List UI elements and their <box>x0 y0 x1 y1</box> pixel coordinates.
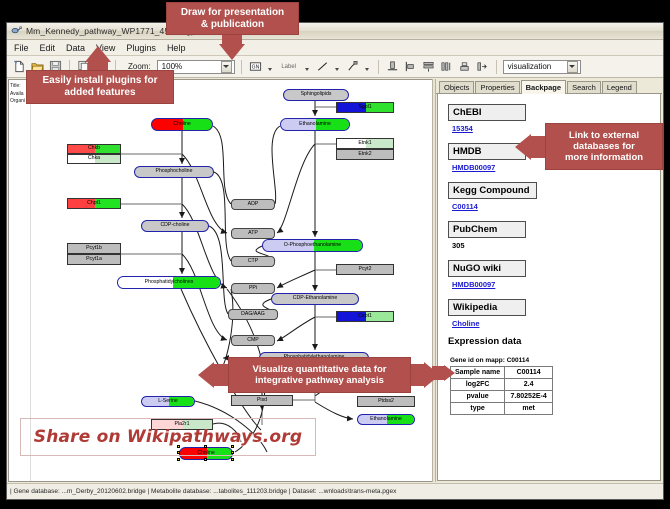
expr-value-2: 7.80252E-4 <box>505 391 553 403</box>
db-pubchem-header: PubChem <box>448 221 526 238</box>
gene-node-cept1[interactable]: Cept1 <box>336 311 394 322</box>
visualization-chevron-down-icon[interactable] <box>567 61 578 73</box>
callout-draw: Draw for presentation & publication <box>166 2 299 35</box>
toolbar-separator-4 <box>378 60 379 74</box>
gene-node-etnk2[interactable]: Etnk2 <box>336 149 394 160</box>
pathway-node-ctp[interactable]: CTP <box>231 256 275 267</box>
gene-node-chpt1[interactable]: Chpt1 <box>67 198 121 209</box>
callout-expr-arrow <box>444 365 455 381</box>
pathway-node-label: Choline <box>173 122 191 127</box>
pathway-node-label: CTP <box>248 259 258 264</box>
db-kegg-header: Kegg Compound <box>448 182 537 199</box>
callout-plugins-text: Easily install plugins for added feature… <box>42 75 157 99</box>
pathway-node-label: L-Serine <box>158 399 178 404</box>
gene-node-chka[interactable]: Chka <box>67 154 121 164</box>
pathway-node-ppi[interactable]: PPi <box>231 283 275 294</box>
interaction-icon[interactable] <box>345 59 360 74</box>
screenshot-root: Mm_Kennedy_pathway_WP1771_45176.gpml Fil… <box>0 0 670 509</box>
svg-text:GN: GN <box>251 65 259 71</box>
tab-legend[interactable]: Legend <box>602 81 637 93</box>
pathway-node-adp[interactable]: ADP <box>231 199 275 210</box>
gene-node-label: Pcyt2 <box>359 267 372 272</box>
db-pubchem-value: 305 <box>452 241 654 250</box>
table-row: pvalue 7.80252E-4 <box>451 391 553 403</box>
table-row: Sample name C00114 <box>451 367 553 379</box>
pathway-node-choline-top[interactable]: Choline <box>151 118 213 131</box>
gene-node-pcyt1a[interactable]: Pcyt1a <box>67 254 121 265</box>
pathway-node-label: CDP-Ethanolamine <box>293 296 337 301</box>
expr-value-0: C00114 <box>505 367 553 379</box>
expr-key-1: log2FC <box>451 379 505 391</box>
gene-node-label: Chka <box>88 156 100 161</box>
callout-links-arrow <box>515 134 531 160</box>
callout-draw-arrow <box>219 44 245 60</box>
callout-links-text: Link to external databases for more info… <box>565 130 643 164</box>
pathway-node-label: Phosphocholine <box>156 169 193 174</box>
stack-vertical-icon[interactable] <box>421 59 436 74</box>
pathway-node-ethanolamine-1[interactable]: Ethanolamine <box>280 118 350 131</box>
gene-node-label: Pcyt1a <box>86 257 102 262</box>
line-dropdown[interactable] <box>333 59 342 74</box>
status-bar: | Gene database: ...m_Derby_20120602.bri… <box>7 483 663 499</box>
db-kegg-link[interactable]: C00114 <box>452 202 654 211</box>
pathway-node-sphingolipids[interactable]: Sphingolipids <box>283 89 349 101</box>
expr-key-3: type <box>451 403 505 415</box>
db-nugo-header: NuGO wiki <box>448 260 526 277</box>
pathway-node-label: CMP <box>247 338 259 343</box>
menu-plugins[interactable]: Plugins <box>125 43 157 53</box>
pathway-node-label: Phosphatidylcholines <box>145 280 194 285</box>
pathway-node-cmp[interactable]: CMP <box>231 335 275 346</box>
menu-help[interactable]: Help <box>166 43 187 53</box>
pathway-node-label: CDP-choline <box>160 223 189 228</box>
callout-visualize: Visualize quantitative data for integrat… <box>228 357 411 393</box>
menu-data[interactable]: Data <box>65 43 86 53</box>
line-icon[interactable] <box>315 59 330 74</box>
expr-value-3: met <box>505 403 553 415</box>
callout-draw-text: Draw for presentation & publication <box>181 7 284 31</box>
status-text: | Gene database: ...m_Derby_20120602.bri… <box>10 488 396 495</box>
pathway-node-cdp-ethanolamine[interactable]: CDP-Ethanolamine <box>271 293 359 305</box>
pathway-node-label: ATP <box>248 231 258 236</box>
menu-file[interactable]: File <box>13 43 30 53</box>
gene-node-label: Chkb <box>88 146 100 151</box>
table-row: log2FC 2.4 <box>451 379 553 391</box>
label-icon[interactable]: Label <box>278 59 300 74</box>
label-text: Label <box>281 64 296 70</box>
gene-node-label: Chpt1 <box>87 201 101 206</box>
pathvisio-app-icon <box>11 26 22 37</box>
tab-objects[interactable]: Objects <box>439 81 474 93</box>
callout-visualize-text: Visualize quantitative data for integrat… <box>253 364 387 386</box>
selection-handle-5[interactable] <box>177 458 180 461</box>
callout-share-text: Share on Wikipathways.org <box>34 427 302 447</box>
pathway-node-label: Ethanolamine <box>299 122 331 127</box>
expression-table: Sample name C00114 log2FC 2.4 pvalue 7.8… <box>450 366 553 415</box>
gene-node-pisd[interactable]: Pisd <box>231 395 293 406</box>
pathway-node-cdp-choline[interactable]: CDP-choline <box>141 220 209 232</box>
callout-plugins: Easily install plugins for added feature… <box>26 70 174 104</box>
tab-backpage[interactable]: Backpage <box>521 80 566 94</box>
db-chebi-header: ChEBI <box>448 104 526 121</box>
gene-node-pcyt1b[interactable]: Pcyt1b <box>67 243 121 254</box>
pathway-node-l-serine-left[interactable]: L-Serine <box>141 396 195 407</box>
align-top-icon[interactable] <box>385 59 400 74</box>
callout-plugins-arrow <box>85 46 111 62</box>
gene-node-ptdss2[interactable]: Ptdss2 <box>357 396 415 407</box>
gene-node-sgpl1[interactable]: Sgpl1 <box>336 102 394 113</box>
expression-data-title: Expression data <box>448 336 654 347</box>
datanode-icon[interactable]: GN <box>248 59 263 74</box>
pathway-node-phosphatidylcholines[interactable]: Phosphatidylcholines <box>117 276 221 289</box>
gene-node-label: Sgpl1 <box>358 105 371 110</box>
pathway-node-o-phosphoethanolamine[interactable]: O-Phosphoethanolamine <box>262 239 363 252</box>
gene-node-label: Cept1 <box>358 314 372 319</box>
pathway-node-label: PPi <box>249 286 257 291</box>
selection-handle-7[interactable] <box>231 458 234 461</box>
visualization-combo[interactable]: visualization <box>503 60 581 74</box>
common-width-icon[interactable] <box>439 59 454 74</box>
align-left-icon[interactable] <box>403 59 418 74</box>
pathway-node-phosphocholine[interactable]: Phosphocholine <box>134 166 214 178</box>
gene-node-pcyt2[interactable]: Pcyt2 <box>336 264 394 275</box>
toolbar-separator-5 <box>496 60 497 74</box>
callout-visualize-arrow-left <box>198 362 214 388</box>
common-height-icon[interactable] <box>457 59 472 74</box>
pathway-node-atp[interactable]: ATP <box>231 228 275 239</box>
interaction-dropdown[interactable] <box>363 59 372 74</box>
pathway-node-ethanolamine-2[interactable]: Ethanolamine <box>357 414 415 425</box>
side-panel-tabs[interactable]: Objects Properties Backpage Search Legen… <box>436 79 662 94</box>
pathway-node-label: Sphingolipids <box>301 92 332 97</box>
db-wikipedia-link[interactable]: Choline <box>452 319 654 328</box>
gene-node-etnk1[interactable]: Etnk1 <box>336 138 394 149</box>
gene-id-line: Gene id on mapp: C00114 <box>450 357 654 364</box>
menu-edit[interactable]: Edit <box>39 43 57 53</box>
pathway-node-dagaag[interactable]: DAG/AAG <box>228 309 278 320</box>
gene-node-label: Pcyt1b <box>86 246 102 251</box>
bring-to-front-icon[interactable] <box>475 59 490 74</box>
gene-node-label: Etnk1 <box>358 141 371 146</box>
gene-node-label: Pisd <box>257 398 267 403</box>
pathway-node-label: Ethanolamine <box>370 417 402 422</box>
pathway-node-label: DAG/AAG <box>241 312 265 317</box>
title-bar: Mm_Kennedy_pathway_WP1771_45176.gpml <box>7 23 663 40</box>
gene-node-chkb[interactable]: Chkb <box>67 144 121 154</box>
pathway-node-label: O-Phosphoethanolamine <box>284 243 341 248</box>
toolbar-separator-3 <box>241 60 242 74</box>
gene-node-label: Ptdss2 <box>378 399 394 404</box>
callout-share: Share on Wikipathways.org <box>20 418 316 456</box>
visualization-value: visualization <box>508 62 552 71</box>
expr-value-1: 2.4 <box>505 379 553 391</box>
datanode-dropdown[interactable] <box>266 59 275 74</box>
gene-node-label: Etnk2 <box>358 152 371 157</box>
db-nugo-link[interactable]: HMDB00097 <box>452 280 654 289</box>
db-wikipedia-header: Wikipedia <box>448 299 526 316</box>
table-row: type met <box>451 403 553 415</box>
pathway-node-label: ADP <box>248 202 259 207</box>
selection-handle-6[interactable] <box>204 458 207 461</box>
tab-search[interactable]: Search <box>567 81 601 93</box>
gene-right-fill <box>263 396 293 405</box>
chevron-down-icon[interactable] <box>221 61 232 73</box>
expr-key-0: Sample name <box>451 367 505 379</box>
expr-key-2: pvalue <box>451 391 505 403</box>
callout-links: Link to external databases for more info… <box>545 123 663 170</box>
label-dropdown[interactable] <box>303 59 312 74</box>
tab-properties[interactable]: Properties <box>475 81 519 93</box>
new-document-icon[interactable] <box>12 59 27 74</box>
